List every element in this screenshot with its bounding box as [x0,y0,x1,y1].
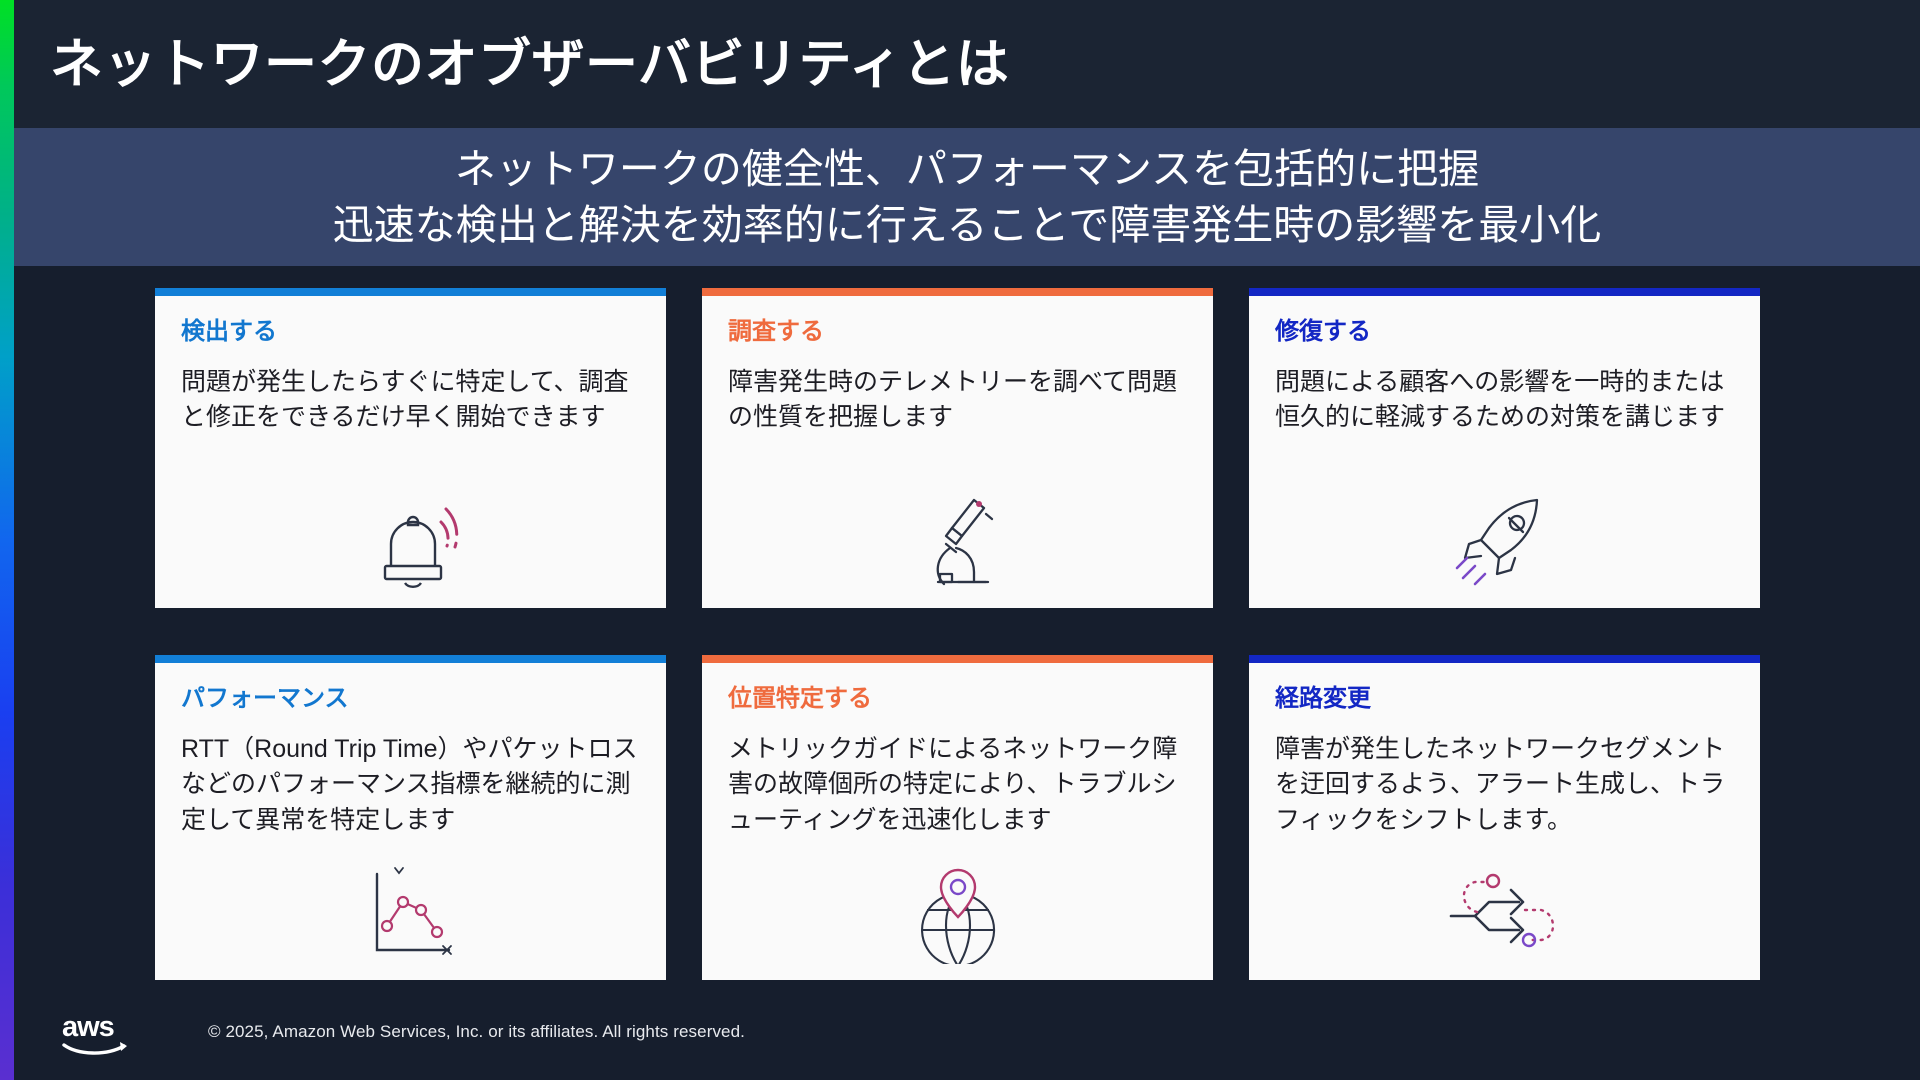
card-body: 問題による顧客への影響を一時的または恒久的に軽減するための対策を講じます [1275,365,1734,436]
globe-pin-icon [893,852,1023,970]
subtitle-line-2: 迅速な検出と解決を効率的に行えることで障害発生時の影響を最小化 [333,198,1602,252]
svg-text:aws: aws [62,1011,114,1043]
card-body: RTT（Round Trip Time）やパケットロスなどのパフォーマンス指標を… [181,732,640,839]
card-reroute[interactable]: 経路変更 障害が発生したネットワークセグメントを迂回するよう、アラート生成し、ト… [1249,655,1760,980]
card-body: 障害発生時のテレメトリーを調べて問題の性質を把握します [728,365,1187,436]
card-performance[interactable]: パフォーマンス RTT（Round Trip Time）やパケットロスなどのパフ… [155,655,666,980]
card-title: 検出する [181,318,640,347]
slide-root: ネットワークのオブザーバビリティとは ネットワークの健全性、パフォーマンスを包括… [0,0,1920,1080]
rocket-icon [1440,480,1570,598]
card-title: 経路変更 [1275,685,1734,714]
footer: aws © 2025, Amazon Web Services, Inc. or… [14,984,1920,1080]
left-gradient-accent-bar [0,0,14,1080]
aws-logo: aws [60,1007,136,1057]
card-body: メトリックガイドによるネットワーク障害の故障個所の特定により、トラブルシューティ… [728,732,1187,839]
page-title: ネットワークのオブザーバビリティとは [50,38,1009,91]
card-title: 修復する [1275,318,1734,347]
card-grid: 検出する 問題が発生したらすぐに特定して、調査と修正をできるだけ早く開始できます… [155,288,1760,980]
subtitle-line-1: ネットワークの健全性、パフォーマンスを包括的に把握 [455,142,1479,196]
card-remediate[interactable]: 修復する 問題による顧客への影響を一時的または恒久的に軽減するための対策を講じま… [1249,288,1760,608]
title-band: ネットワークのオブザーバビリティとは [14,0,1920,128]
card-title: パフォーマンス [181,685,640,714]
microscope-icon [893,480,1023,598]
card-title: 調査する [728,318,1187,347]
reroute-arrows-icon [1440,852,1570,970]
subtitle-band: ネットワークの健全性、パフォーマンスを包括的に把握 迅速な検出と解決を効率的に行… [14,128,1920,266]
copyright-text: © 2025, Amazon Web Services, Inc. or its… [208,1022,745,1042]
card-localize[interactable]: 位置特定する メトリックガイドによるネットワーク障害の故障個所の特定により、トラ… [702,655,1213,980]
card-body: 問題が発生したらすぐに特定して、調査と修正をできるだけ早く開始できます [181,365,640,436]
card-body: 障害が発生したネットワークセグメントを迂回するよう、アラート生成し、トラフィック… [1275,732,1734,839]
line-chart-icon [346,852,476,970]
bell-alert-icon [346,480,476,598]
card-investigate[interactable]: 調査する 障害発生時のテレメトリーを調べて問題の性質を把握します [702,288,1213,608]
card-title: 位置特定する [728,685,1187,714]
card-detect[interactable]: 検出する 問題が発生したらすぐに特定して、調査と修正をできるだけ早く開始できます [155,288,666,608]
